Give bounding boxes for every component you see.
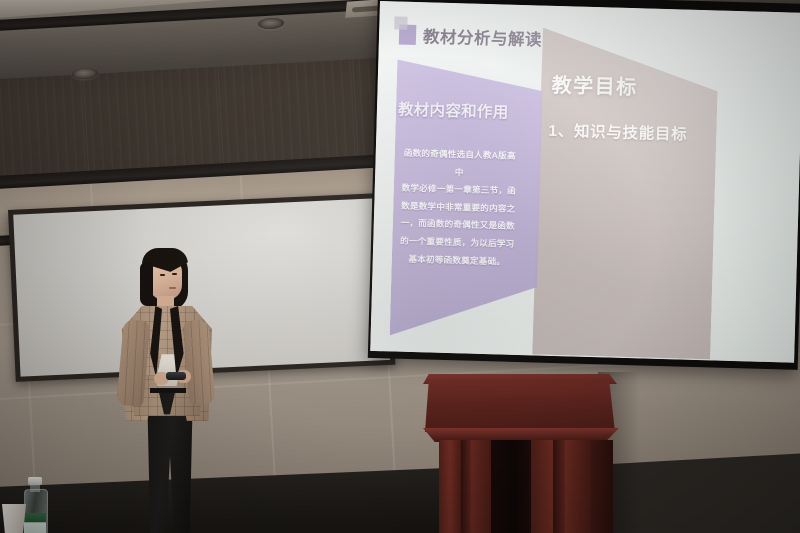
- projection-screen: 教材分析与解读 教材内容和作用 函数的奇偶性选自人教A版高中 数学必修一第一章第…: [370, 1, 800, 363]
- presentation-remote[interactable]: [166, 372, 186, 380]
- right-panel-heading: 教学目标: [551, 69, 638, 100]
- wooden-lectern: [423, 370, 621, 533]
- slide-title-row: 教材分析与解读: [399, 23, 543, 51]
- lecture-hall-scene: 教材分析与解读 教材内容和作用 函数的奇偶性选自人教A版高中 数学必修一第一章第…: [0, 0, 800, 533]
- left-panel-heading: 教材内容和作用: [398, 98, 543, 124]
- left-panel-body: 函数的奇偶性选自人教A版高中 数学必修一第一章第三节，函 数是数学中非常重要的内…: [397, 145, 520, 271]
- body-line: 函数的奇偶性选自人教A版高中: [399, 145, 520, 184]
- paper-cup: [2, 504, 26, 533]
- body-line: 基本初等函数奠定基础。: [397, 250, 517, 271]
- hair-side: [140, 262, 153, 306]
- right-panel-subheading: 1、知识与技能目标: [548, 119, 687, 145]
- water-bottle: [24, 477, 46, 533]
- belt: [150, 388, 186, 393]
- square-bullet-icon: [399, 25, 417, 45]
- square-bullet-shadow-icon: [394, 16, 407, 29]
- slide-title: 教材分析与解读: [423, 23, 543, 50]
- female-presenter: [110, 248, 230, 533]
- presentation-slide: 教材分析与解读 教材内容和作用 函数的奇偶性选自人教A版高中 数学必修一第一章第…: [370, 1, 800, 363]
